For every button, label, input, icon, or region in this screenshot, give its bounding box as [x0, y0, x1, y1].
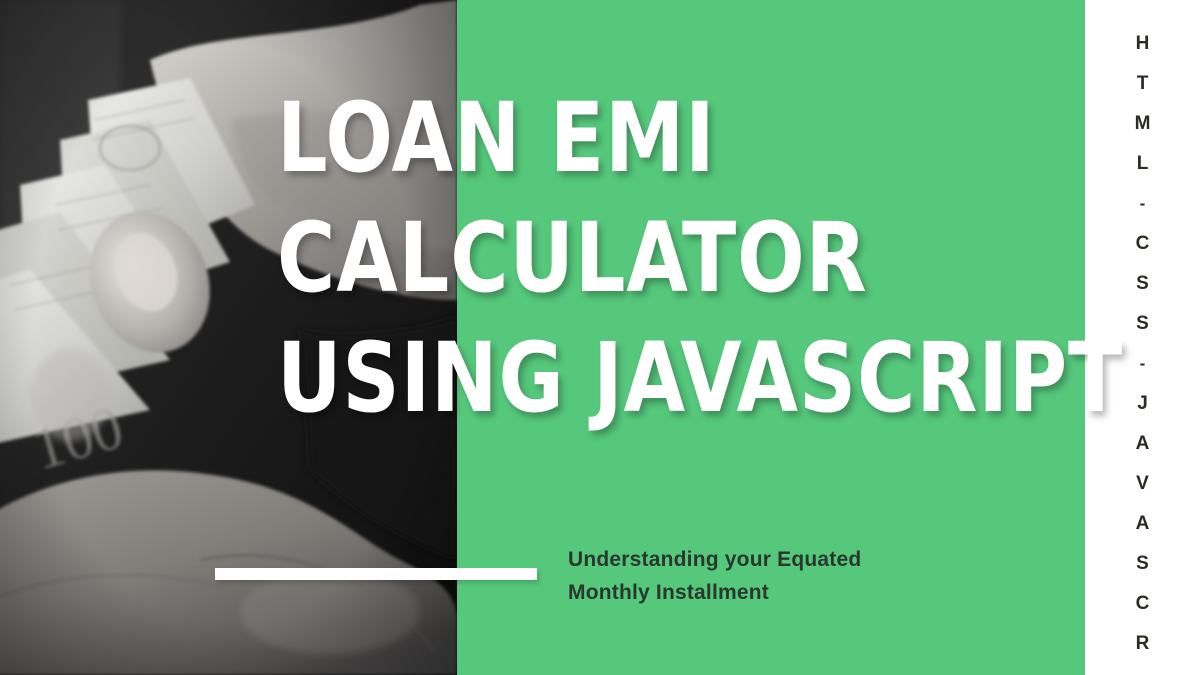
sidebar-char-5: C [1085, 224, 1200, 264]
title-line-1: LOAN EMI [277, 78, 921, 198]
sidebar-char-16: I [1085, 664, 1200, 675]
subtitle-line-1: Understanding your Equated [568, 543, 968, 576]
sidebar-char-2: M [1085, 104, 1200, 144]
title-line-3: USING JAVASCRIPT [277, 318, 921, 438]
title-line-2: CALCULATOR [277, 198, 921, 318]
subtitle-line-2: Monthly Installment [568, 576, 968, 609]
sidebar-char-11: V [1085, 464, 1200, 504]
sidebar-char-3: L [1085, 144, 1200, 184]
sidebar-char-4: - [1085, 184, 1200, 224]
slide-subtitle: Understanding your Equated Monthly Insta… [568, 543, 968, 609]
sidebar-char-12: A [1085, 504, 1200, 544]
title-slide: 100 LOAN EMI CALCULATOR USING JAVASCRIPT… [0, 0, 1200, 675]
sidebar-char-6: S [1085, 264, 1200, 304]
sidebar-char-15: R [1085, 624, 1200, 664]
sidebar-char-14: C [1085, 584, 1200, 624]
sidebar-char-0: H [1085, 24, 1200, 64]
divider-rule [215, 568, 537, 580]
sidebar-char-1: T [1085, 64, 1200, 104]
slide-title: LOAN EMI CALCULATOR USING JAVASCRIPT [277, 78, 977, 438]
sidebar-char-13: S [1085, 544, 1200, 584]
